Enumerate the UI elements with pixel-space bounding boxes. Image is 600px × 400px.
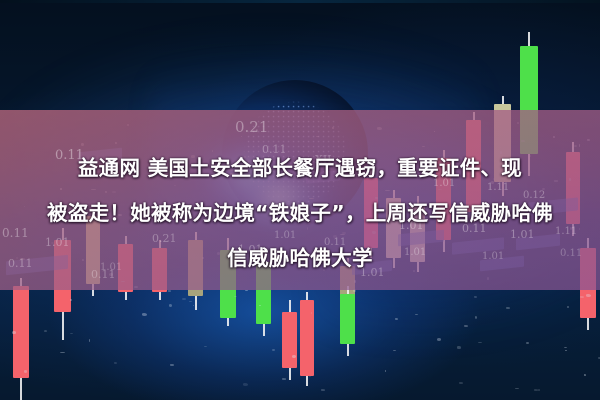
- particle-speck: [321, 389, 325, 390]
- particle-speck: [169, 304, 172, 307]
- particle-speck: [580, 296, 585, 298]
- particle-speck: [538, 389, 540, 391]
- particle-speck: [142, 313, 147, 316]
- headline-line-2: 被盗走！她被称为边境“铁娘子”，上周还写信威胁哈佛: [0, 191, 600, 236]
- particle-speck: [311, 312, 312, 314]
- particle-speck: [506, 307, 509, 309]
- particle-speck: [459, 382, 463, 384]
- headline-line-3: 信威胁哈佛大学: [0, 236, 600, 281]
- news-banner-image: 0.110.210.11XII1.011.110.121.010.111.011…: [0, 0, 600, 400]
- candlestick-body: [340, 294, 355, 344]
- candlestick-body: [300, 300, 314, 376]
- candlestick-down: [300, 292, 314, 386]
- candlestick-body: [282, 312, 297, 368]
- particle-speck: [457, 346, 461, 349]
- particle-speck: [60, 352, 65, 353]
- particle-speck: [586, 294, 591, 297]
- particle-speck: [168, 290, 171, 292]
- candlestick-up: [340, 286, 355, 356]
- particle-speck: [474, 296, 477, 298]
- top-edge-line: [0, 0, 600, 3]
- headline-line-1: 益通网 美国土安全部长餐厅遇窃，重要证件、现: [0, 146, 600, 191]
- particle-speck: [292, 355, 296, 358]
- particle-speck: [464, 325, 468, 327]
- particle-speck: [567, 306, 568, 308]
- candlestick-down: [282, 300, 297, 380]
- particle-speck: [282, 378, 286, 379]
- headline-text: 益通网 美国土安全部长餐厅遇窃，重要证件、现 被盗走！她被称为边境“铁娘子”，上…: [0, 146, 600, 281]
- particle-speck: [395, 318, 397, 320]
- candlestick-down: [13, 278, 29, 400]
- particle-speck: [385, 370, 386, 372]
